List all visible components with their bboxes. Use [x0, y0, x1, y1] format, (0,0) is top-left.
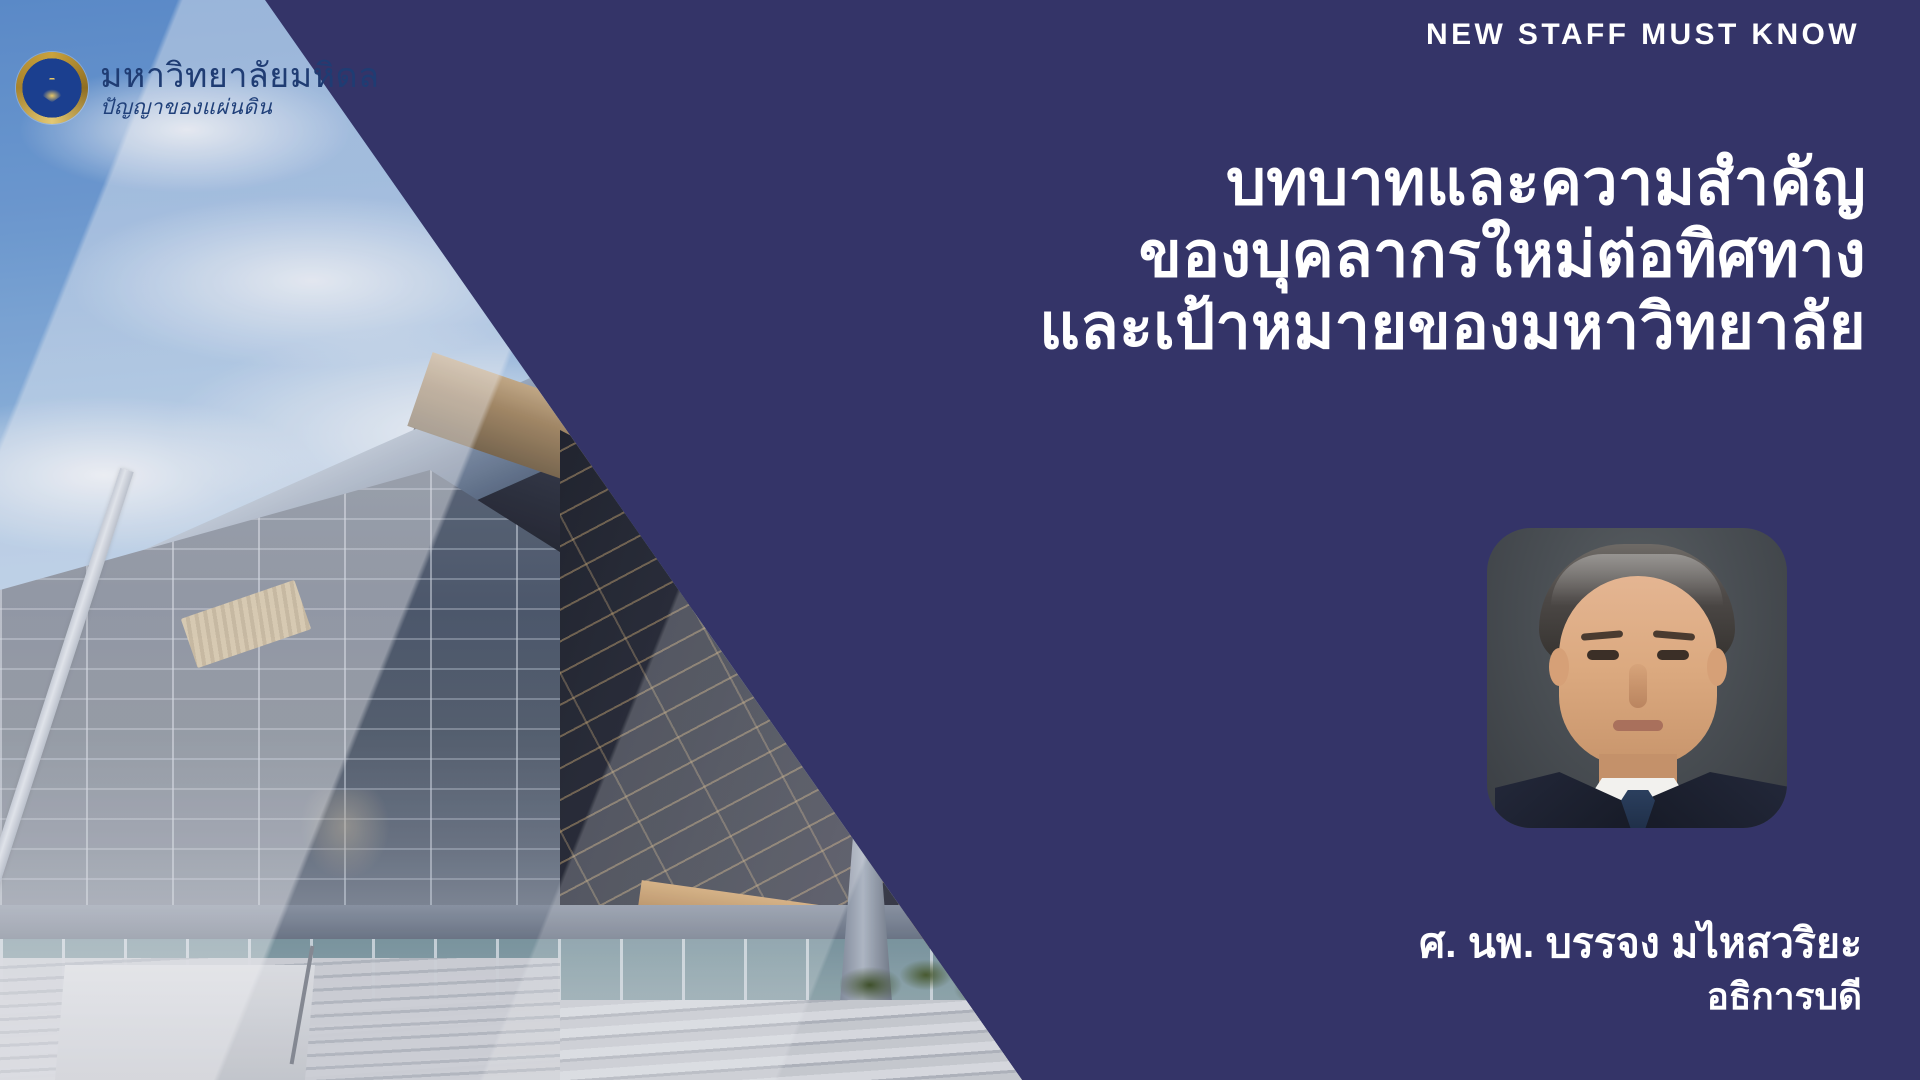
- title-line-2: ของบุคลากรใหม่ต่อทิศทาง: [1039, 220, 1866, 292]
- plaza-ramp: [55, 965, 315, 1080]
- page-title: บทบาทและความสำคัญ ของบุคลากรใหม่ต่อทิศทา…: [1039, 148, 1866, 363]
- portrait-mouth: [1613, 720, 1663, 731]
- presentation-slide: มหาวิทยาลัยมหิดล ปัญญาของแผ่นดิน NEW STA…: [0, 0, 1920, 1080]
- temple-reflection: [300, 790, 390, 880]
- portrait-ear-right: [1707, 648, 1727, 686]
- title-line-1: บทบาทและความสำคัญ: [1039, 148, 1866, 220]
- speaker-role: อธิการบดี: [1419, 973, 1862, 1021]
- structural-brace-right: [905, 443, 1020, 956]
- speaker-name: ศ. นพ. บรรจง มไหสวริยะ: [1419, 918, 1862, 969]
- logo-wordmark-thai: มหาวิทยาลัยมหิดล: [100, 59, 379, 93]
- logo-wordmark: มหาวิทยาลัยมหิดล ปัญญาของแผ่นดิน: [100, 59, 379, 118]
- mahidol-university-seal-icon: [16, 52, 88, 124]
- kicker-text: NEW STAFF MUST KNOW: [1426, 18, 1860, 52]
- portrait-eye-left: [1587, 650, 1619, 660]
- mahidol-logo: มหาวิทยาลัยมหิดล ปัญญาของแผ่นดิน: [16, 52, 379, 124]
- speaker-portrait-photo: [1487, 528, 1787, 828]
- building-illustration: [0, 0, 1040, 1080]
- logo-tagline-thai: ปัญญาของแผ่นดิน: [100, 97, 379, 118]
- portrait-ear-left: [1549, 648, 1569, 686]
- title-line-3: และเป้าหมายของมหาวิทยาลัย: [1039, 292, 1866, 364]
- speaker-byline: ศ. นพ. บรรจง มไหสวริยะ อธิการบดี: [1419, 918, 1862, 1021]
- portrait-eye-right: [1657, 650, 1689, 660]
- prince-mahidol-hall-photo: [0, 0, 1040, 1080]
- portrait-nose: [1629, 664, 1647, 708]
